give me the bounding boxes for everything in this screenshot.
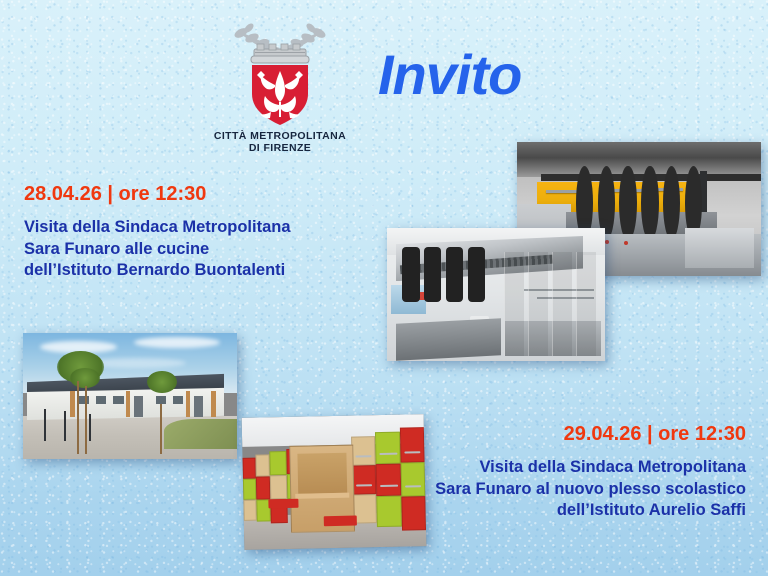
photo-lockers: [242, 414, 427, 550]
event-1-line-1: Visita della Sindaca Metropolitana: [24, 217, 291, 239]
photo-kitchen-hood: [387, 228, 605, 361]
event-1-date: 28.04.26 | ore 12:30: [24, 182, 291, 206]
page-title: Invito: [378, 46, 521, 104]
logo-line-2: DI FIRENZE: [205, 142, 355, 154]
photo-school-exterior: [23, 333, 237, 459]
logo-wordmark: CITTÀ METROPOLITANA DI FIRENZE: [205, 130, 355, 154]
event-1-line-2: Sara Funaro alle cucine: [24, 239, 291, 261]
invitation-poster: CITTÀ METROPOLITANA DI FIRENZE Invito: [0, 0, 768, 576]
mural-crown-icon: [251, 44, 309, 63]
event-2-date: 29.04.26 | ore 12:30: [435, 422, 746, 446]
event-2-line-2: Sara Funaro al nuovo plesso scolastico: [435, 479, 746, 501]
logo-line-1: CITTÀ METROPOLITANA: [205, 130, 355, 142]
event-block-1: 28.04.26 | ore 12:30 Visita della Sindac…: [24, 182, 291, 282]
event-block-2: 29.04.26 | ore 12:30 Visita della Sindac…: [435, 422, 746, 522]
event-2-description: Visita della Sindaca Metropolitana Sara …: [435, 457, 746, 522]
citta-metropolitana-logo: CITTÀ METROPOLITANA DI FIRENZE: [205, 22, 355, 140]
event-1-description: Visita della Sindaca Metropolitana Sara …: [24, 217, 291, 282]
event-2-line-3: dell’Istituto Aurelio Saffi: [435, 500, 746, 522]
event-2-line-1: Visita della Sindaca Metropolitana: [435, 457, 746, 479]
coat-of-arms-icon: [205, 22, 355, 132]
event-1-line-3: dell’Istituto Bernardo Buontalenti: [24, 260, 291, 282]
